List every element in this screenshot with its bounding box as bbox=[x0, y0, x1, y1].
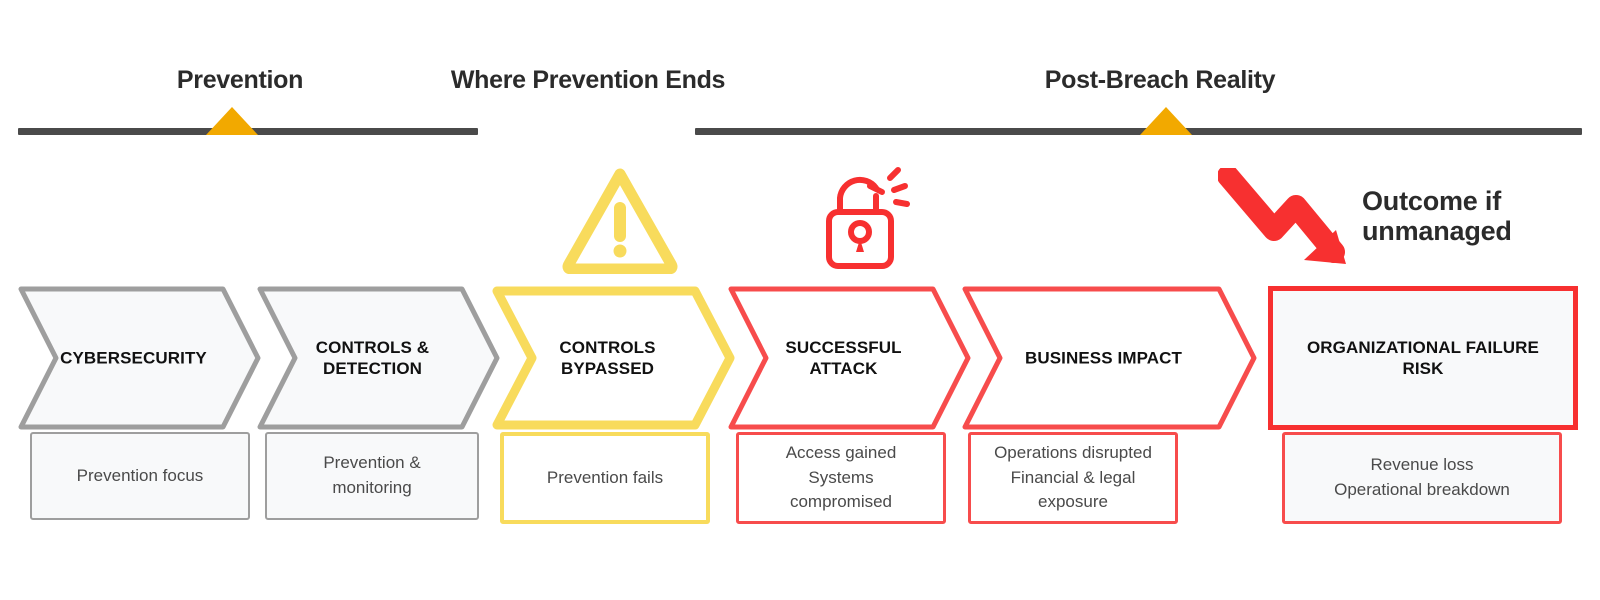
timeline-marker-prevention bbox=[206, 107, 258, 135]
stage-title-organizational-failure-risk: ORGANIZATIONAL FAILURE RISK bbox=[1273, 337, 1573, 380]
description-cybersecurity: Prevention focus bbox=[30, 432, 250, 520]
stage-organizational-failure-risk[interactable]: ORGANIZATIONAL FAILURE RISK Revenue loss… bbox=[1268, 286, 1578, 524]
timeline-label-post-breach: Post-Breach Reality bbox=[1045, 66, 1276, 95]
panel-organizational-failure-risk[interactable]: ORGANIZATIONAL FAILURE RISK bbox=[1268, 286, 1578, 430]
desc-line: monitoring bbox=[323, 476, 420, 501]
stage-cybersecurity[interactable]: CYBERSECURITY Prevention focus bbox=[18, 286, 261, 520]
infographic-canvas: Prevention Where Prevention Ends Post-Br… bbox=[0, 0, 1600, 600]
timeline-label-divider: Where Prevention Ends bbox=[451, 66, 725, 95]
description-business-impact: Operations disrupted Financial & legal e… bbox=[968, 432, 1178, 524]
chevron-successful-attack[interactable]: SUCCESSFUL ATTACK bbox=[728, 286, 971, 430]
stage-controls-bypassed[interactable]: CONTROLS BYPASSED Prevention fails bbox=[492, 286, 735, 524]
desc-line: compromised bbox=[786, 490, 897, 515]
chevron-controls-bypassed[interactable]: CONTROLS BYPASSED bbox=[492, 286, 735, 430]
chevron-cybersecurity[interactable]: CYBERSECURITY bbox=[18, 286, 261, 430]
title-line: RISK bbox=[1289, 358, 1557, 379]
red-down-arrow-icon bbox=[1218, 168, 1358, 278]
stage-successful-attack[interactable]: SUCCESSFUL ATTACK Access gained Systems … bbox=[728, 286, 971, 524]
timeline-label-prevention: Prevention bbox=[177, 66, 303, 95]
broken-padlock-icon bbox=[810, 164, 920, 276]
outcome-line-2: unmanaged bbox=[1362, 216, 1512, 246]
desc-line: Operations disrupted bbox=[994, 441, 1152, 466]
timeline-marker-post-breach bbox=[1140, 107, 1192, 135]
desc-line: Access gained bbox=[786, 441, 897, 466]
chevron-controls-detection[interactable]: CONTROLS & DETECTION bbox=[257, 286, 500, 430]
desc-line: Operational breakdown bbox=[1334, 478, 1510, 503]
stage-controls-detection[interactable]: CONTROLS & DETECTION Prevention & monito… bbox=[257, 286, 500, 520]
warning-triangle-icon bbox=[561, 166, 679, 274]
description-controls-detection: Prevention & monitoring bbox=[265, 432, 479, 520]
description-organizational-failure-risk: Revenue loss Operational breakdown bbox=[1282, 432, 1562, 524]
desc-line: Revenue loss bbox=[1334, 453, 1510, 478]
desc-line: Prevention fails bbox=[547, 466, 663, 491]
outcome-line-1: Outcome if bbox=[1362, 186, 1512, 216]
stage-business-impact[interactable]: BUSINESS IMPACT Operations disrupted Fin… bbox=[962, 286, 1257, 524]
timeline-bar-post-breach bbox=[695, 128, 1582, 135]
desc-line: Prevention & bbox=[323, 451, 420, 476]
outcome-callout: Outcome if unmanaged bbox=[1362, 186, 1512, 246]
desc-line: Systems bbox=[786, 466, 897, 491]
desc-line: Prevention focus bbox=[77, 464, 204, 489]
description-successful-attack: Access gained Systems compromised bbox=[736, 432, 946, 524]
desc-line: exposure bbox=[994, 490, 1152, 515]
title-line: ORGANIZATIONAL FAILURE bbox=[1289, 337, 1557, 358]
description-controls-bypassed: Prevention fails bbox=[500, 432, 710, 524]
chevron-business-impact[interactable]: BUSINESS IMPACT bbox=[962, 286, 1257, 430]
desc-line: Financial & legal bbox=[994, 466, 1152, 491]
